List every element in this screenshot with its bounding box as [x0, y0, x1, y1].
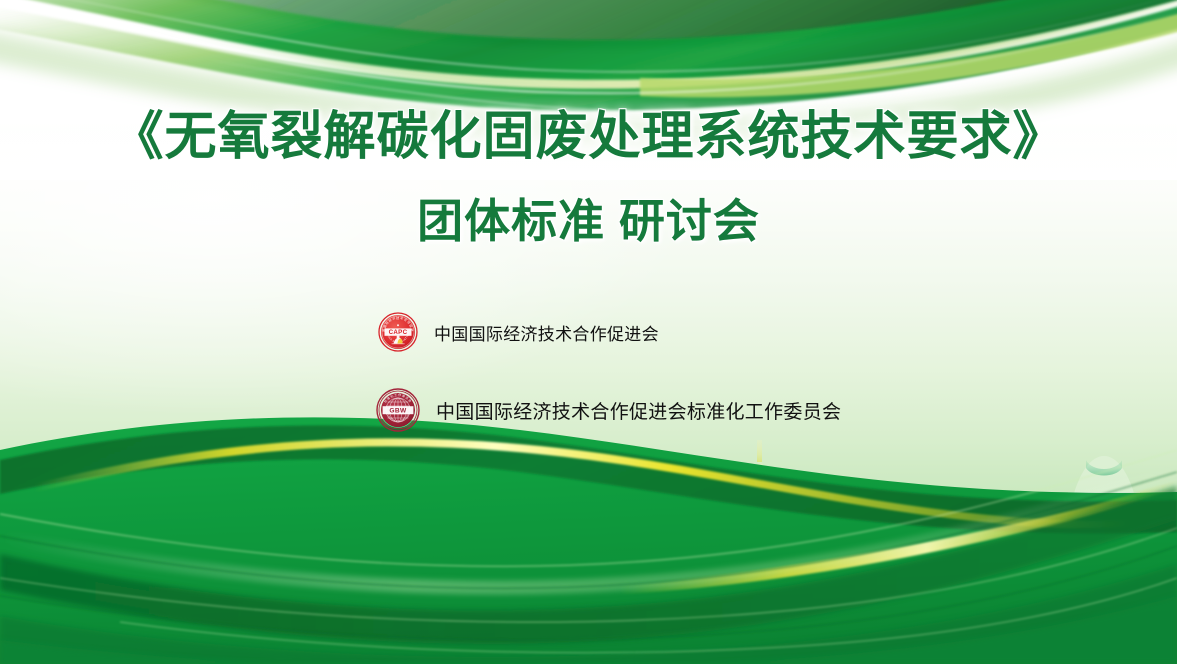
- presentation-slide: 《无氧裂解碳化固废处理系统技术要求》 团体标准 研讨会: [0, 0, 1177, 664]
- svg-text:CAPC: CAPC: [389, 329, 408, 336]
- svg-text:GBW: GBW: [389, 408, 407, 415]
- gbw-seal-logo: 标准化工作委员会 STANDARDIZATION GBW: [376, 388, 420, 432]
- title-block: 《无氧裂解碳化固废处理系统技术要求》 团体标准 研讨会: [0, 108, 1177, 248]
- slide-title-line1: 《无氧裂解碳化固废处理系统技术要求》: [0, 108, 1177, 166]
- organization-row-capc: 中国国际经济技术合作促进会 CHINA ASSOCIATION CAPC: [378, 312, 659, 352]
- slide-title-line2: 团体标准 研讨会: [0, 196, 1177, 248]
- organization-row-gbw: 标准化工作委员会 STANDARDIZATION GBW 中国国际经济技术合作促…: [376, 388, 841, 432]
- organization-name-capc: 中国国际经济技术合作促进会: [434, 320, 659, 345]
- capc-seal-logo: 中国国际经济技术合作促进会 CHINA ASSOCIATION CAPC: [378, 312, 418, 352]
- slide-content: 《无氧裂解碳化固废处理系统技术要求》 团体标准 研讨会: [0, 0, 1177, 664]
- organization-name-gbw: 中国国际经济技术合作促进会标准化工作委员会: [436, 397, 841, 424]
